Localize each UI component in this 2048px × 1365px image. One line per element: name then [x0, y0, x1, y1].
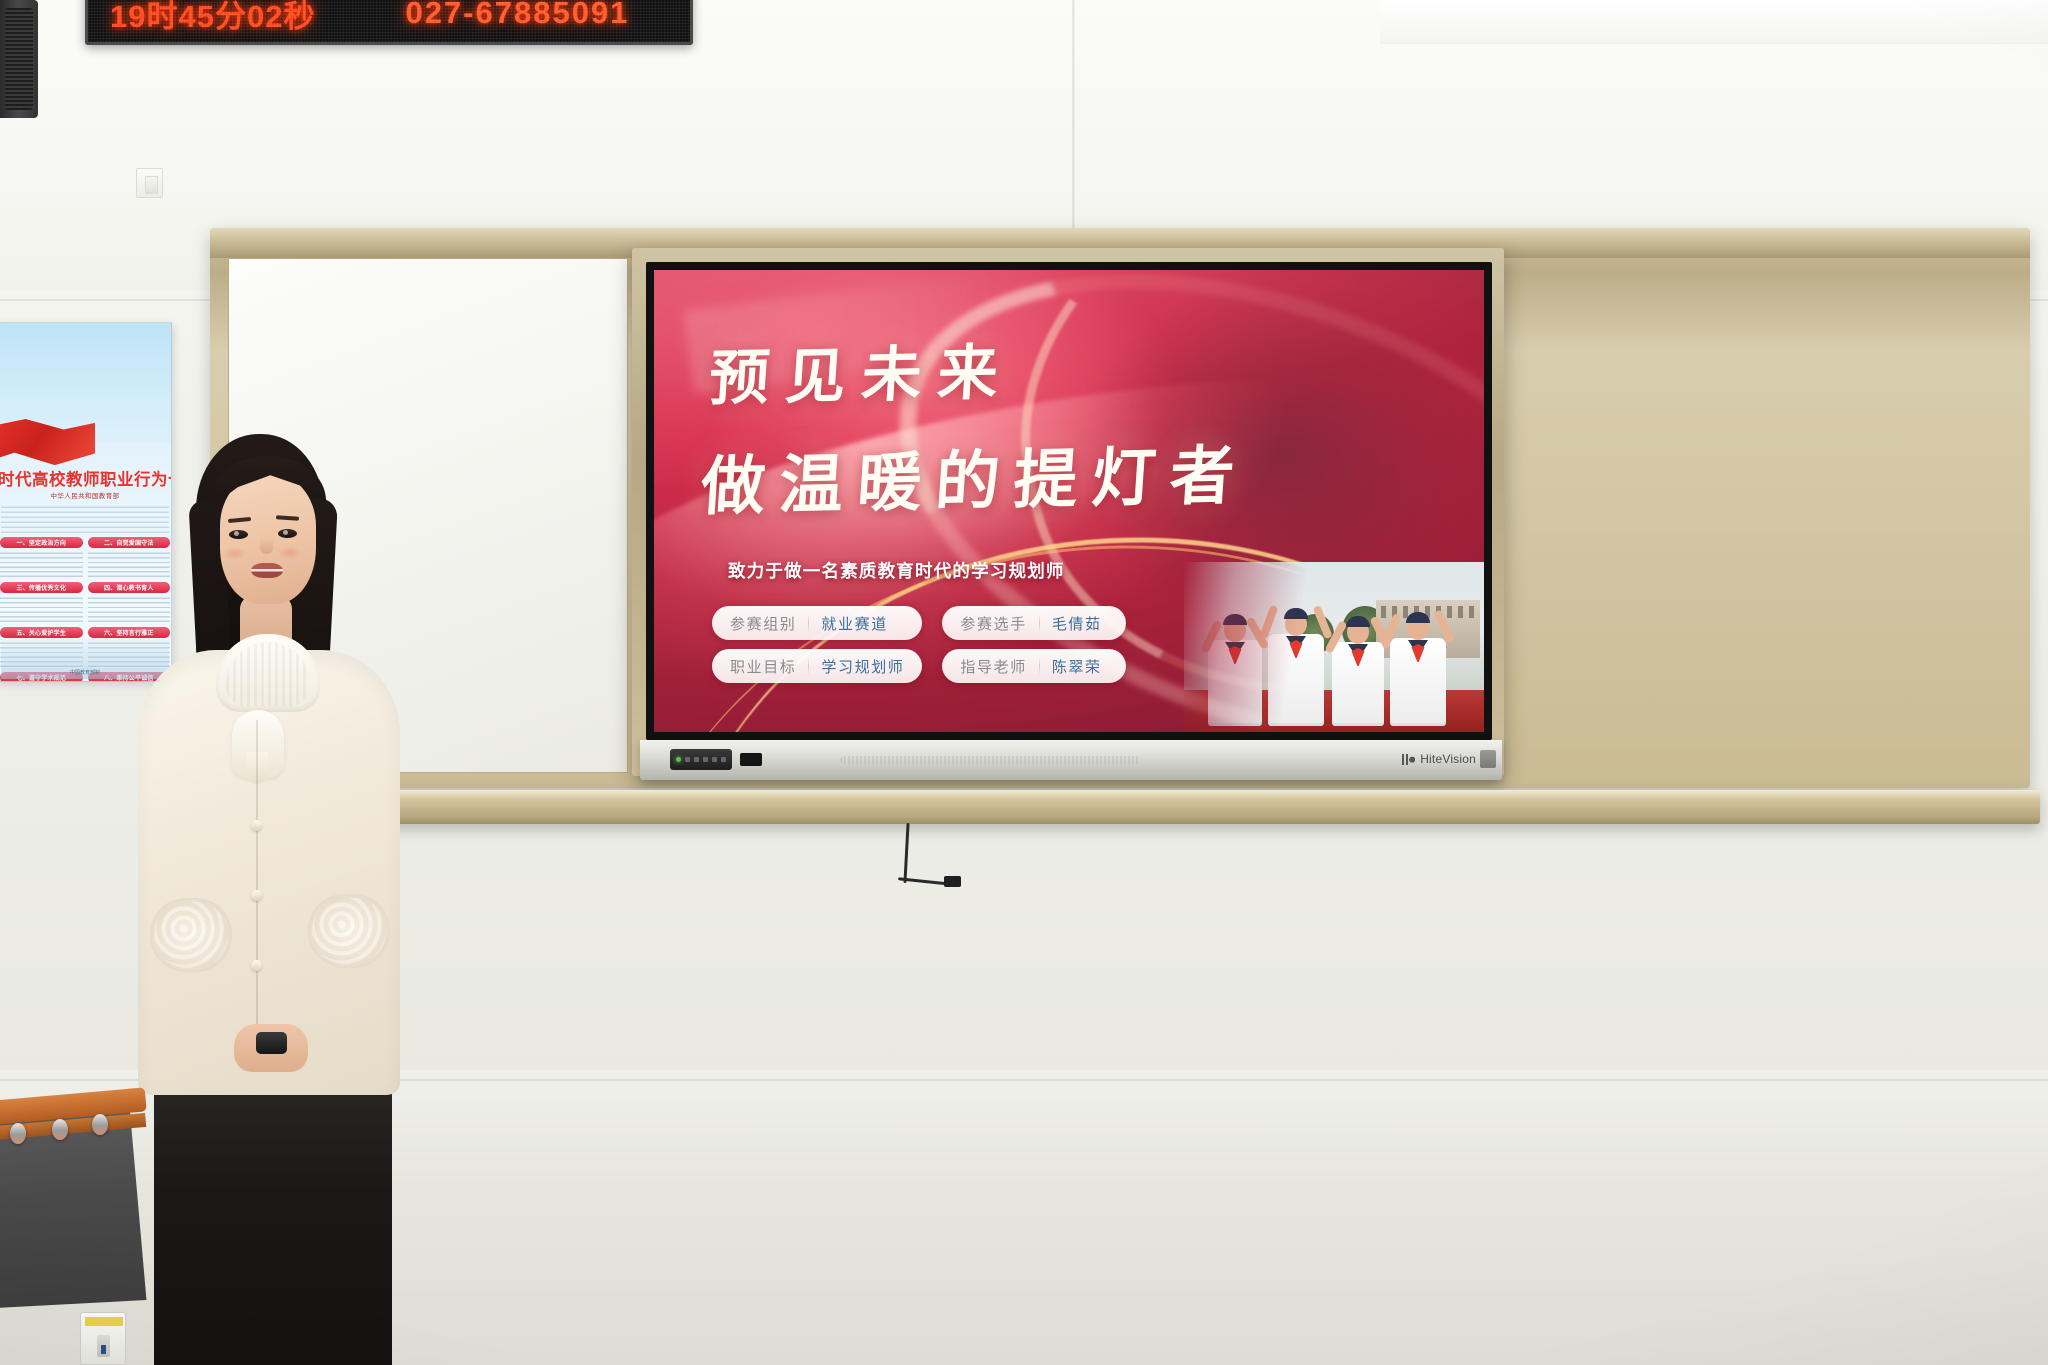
presenter-blush-left: [223, 547, 247, 560]
presentation-clicker-icon[interactable]: [256, 1032, 287, 1054]
poster-flag-icon: [0, 419, 95, 467]
slide-tag-key: 参赛选手: [946, 613, 1038, 634]
presenter-mouth: [251, 563, 283, 578]
power-button-icon[interactable]: [721, 757, 726, 762]
photo-student: [1332, 642, 1384, 726]
wall-light-switch[interactable]: [136, 168, 163, 198]
hitevision-logo-icon: [1402, 754, 1415, 765]
poster-item-label: 三、传播优秀文化: [0, 582, 83, 593]
slide-tag: 参赛组别 就业赛道: [712, 606, 922, 640]
led-clock-text: 19时45分02秒: [110, 0, 315, 36]
cable-plug-icon: [944, 876, 961, 887]
slide-tag-key: 指导老师: [946, 656, 1038, 677]
ir-receiver-icon: [740, 753, 762, 766]
display-brand: HiteVision: [1402, 752, 1476, 766]
wall-speaker: [0, 0, 38, 118]
outlet-label-tape: [85, 1317, 123, 1326]
slide-title-line-1: 预见未来: [707, 324, 1017, 417]
ceiling-molding: [1380, 0, 2048, 44]
presenter-skirt: [154, 1070, 392, 1365]
presenter-fur-cuff-right: [308, 894, 390, 968]
slide-tag-value: 陈翠荣: [1040, 656, 1116, 677]
display-control-panel[interactable]: [670, 749, 732, 770]
source-button-icon[interactable]: [712, 757, 717, 762]
wall-power-outlet[interactable]: [80, 1312, 126, 1365]
slide-tag: 参赛选手 毛倩茹: [942, 606, 1126, 640]
slide-tag-value: 学习规划师: [809, 656, 918, 677]
presenter-coat-bow: [232, 710, 284, 778]
display-speaker-grille: [840, 756, 1140, 764]
led-scrolling-sign: 19时45分02秒 027-67885091: [85, 0, 693, 45]
volume-up-button-icon[interactable]: [703, 757, 708, 762]
volume-down-button-icon[interactable]: [694, 757, 699, 762]
slide-tag-key: 职业目标: [716, 656, 808, 677]
poster-item-body: [0, 596, 83, 622]
poster-item-body: [0, 551, 83, 577]
lectern-knob[interactable]: [52, 1119, 68, 1140]
whiteboard-ledge: [200, 790, 2040, 824]
lectern-knob[interactable]: [10, 1123, 26, 1144]
led-sign-row: 19时45分02秒 027-67885091: [88, 0, 690, 40]
slide-tag: 职业目标 学习规划师: [712, 649, 922, 683]
menu-button-icon[interactable]: [685, 757, 690, 762]
photo-student: [1208, 640, 1262, 726]
slide-tag: 指导老师 陈翠荣: [942, 649, 1126, 683]
slide-tag-value: 就业赛道: [809, 613, 901, 634]
presenter-eye-right: [278, 529, 297, 538]
poster-item: 一、坚定政治方向: [0, 537, 83, 577]
presentation-slide[interactable]: 预见未来 做温暖的提灯者 致力于做一名素质教育时代的学习规划师 参赛组别 就业赛…: [654, 270, 1484, 732]
slide-subtitle: 致力于做一名素质教育时代的学习规划师: [728, 558, 1065, 583]
slide-photo-students: [1184, 562, 1484, 732]
classroom-scene: 19时45分02秒 027-67885091 新时代高校教师职业行为十项准则 中…: [0, 0, 2048, 1365]
presenter-fur-cuff-left: [150, 898, 232, 972]
presenter-coat-placket: [256, 720, 258, 1050]
presenter-coat-button: [251, 890, 262, 901]
lectern-knob[interactable]: [92, 1114, 108, 1135]
presenter-blush-right: [278, 546, 302, 559]
presenter-nose: [260, 538, 273, 554]
slide-title-line-2: 做温暖的提灯者: [698, 424, 1251, 527]
poster-item-label: 五、关心爱护学生: [0, 627, 83, 638]
display-brand-label: HiteVision: [1420, 752, 1476, 766]
outlet-switch[interactable]: [97, 1335, 110, 1357]
photo-student: [1390, 638, 1446, 726]
poster-item: 三、传播优秀文化: [0, 582, 83, 622]
presenter-coat-button: [251, 820, 262, 831]
slide-tag-value: 毛倩茹: [1040, 613, 1116, 634]
led-phone-text: 027-67885091: [405, 0, 629, 31]
photo-student: [1268, 634, 1324, 726]
display-side-port: [1480, 750, 1496, 768]
poster-item-label: 一、坚定政治方向: [0, 537, 83, 548]
slide-info-tags: 参赛组别 就业赛道 参赛选手 毛倩茹 职业目标 学习规划师 指导老师 陈翠荣: [712, 606, 1126, 683]
slide-tag-key: 参赛组别: [716, 613, 808, 634]
presenter-coat-button: [251, 960, 262, 971]
presenter-eye-left: [229, 530, 248, 539]
power-led-icon: [676, 757, 681, 762]
smart-display-chassis: HiteVision: [640, 740, 1502, 780]
